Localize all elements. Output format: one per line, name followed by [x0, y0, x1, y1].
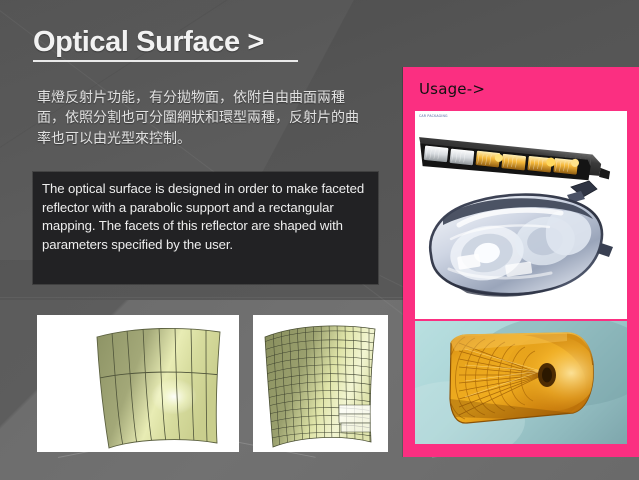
- photo-watermark: CAR PACKAGING: [419, 114, 448, 118]
- lamp-photos-container: CAR PACKAGING: [415, 111, 627, 319]
- page-title-text: Optical Surface >: [33, 27, 373, 57]
- chinese-description-text: 車燈反射片功能，有分拋物面，依附自由曲面兩種面，依照分割也可分圍網狀和環型兩種，…: [37, 88, 372, 149]
- amber-lens-photo: [415, 321, 627, 444]
- slide-canvas: Optical Surface > 車燈反射片功能，有分拋物面，依附自由曲面兩種…: [0, 0, 639, 480]
- amber-lens-drawing: [415, 321, 627, 444]
- cad-image-faceted-mesh-surface: [253, 315, 388, 452]
- page-title: Optical Surface >: [33, 27, 373, 62]
- cad-image-parabolic-strip-surface: [37, 315, 239, 452]
- usage-label: Usage->: [419, 80, 485, 98]
- usage-panel: Usage-> CAR PACKAGING: [403, 67, 639, 457]
- parabolic-strip-surface-drawing: [37, 315, 239, 452]
- faceted-mesh-surface-drawing: [253, 315, 388, 452]
- lamp-photos-drawing: [415, 111, 627, 319]
- title-underline: [33, 60, 298, 62]
- english-description-text: The optical surface is designed in order…: [42, 180, 372, 255]
- english-description-box: The optical surface is designed in order…: [33, 172, 378, 284]
